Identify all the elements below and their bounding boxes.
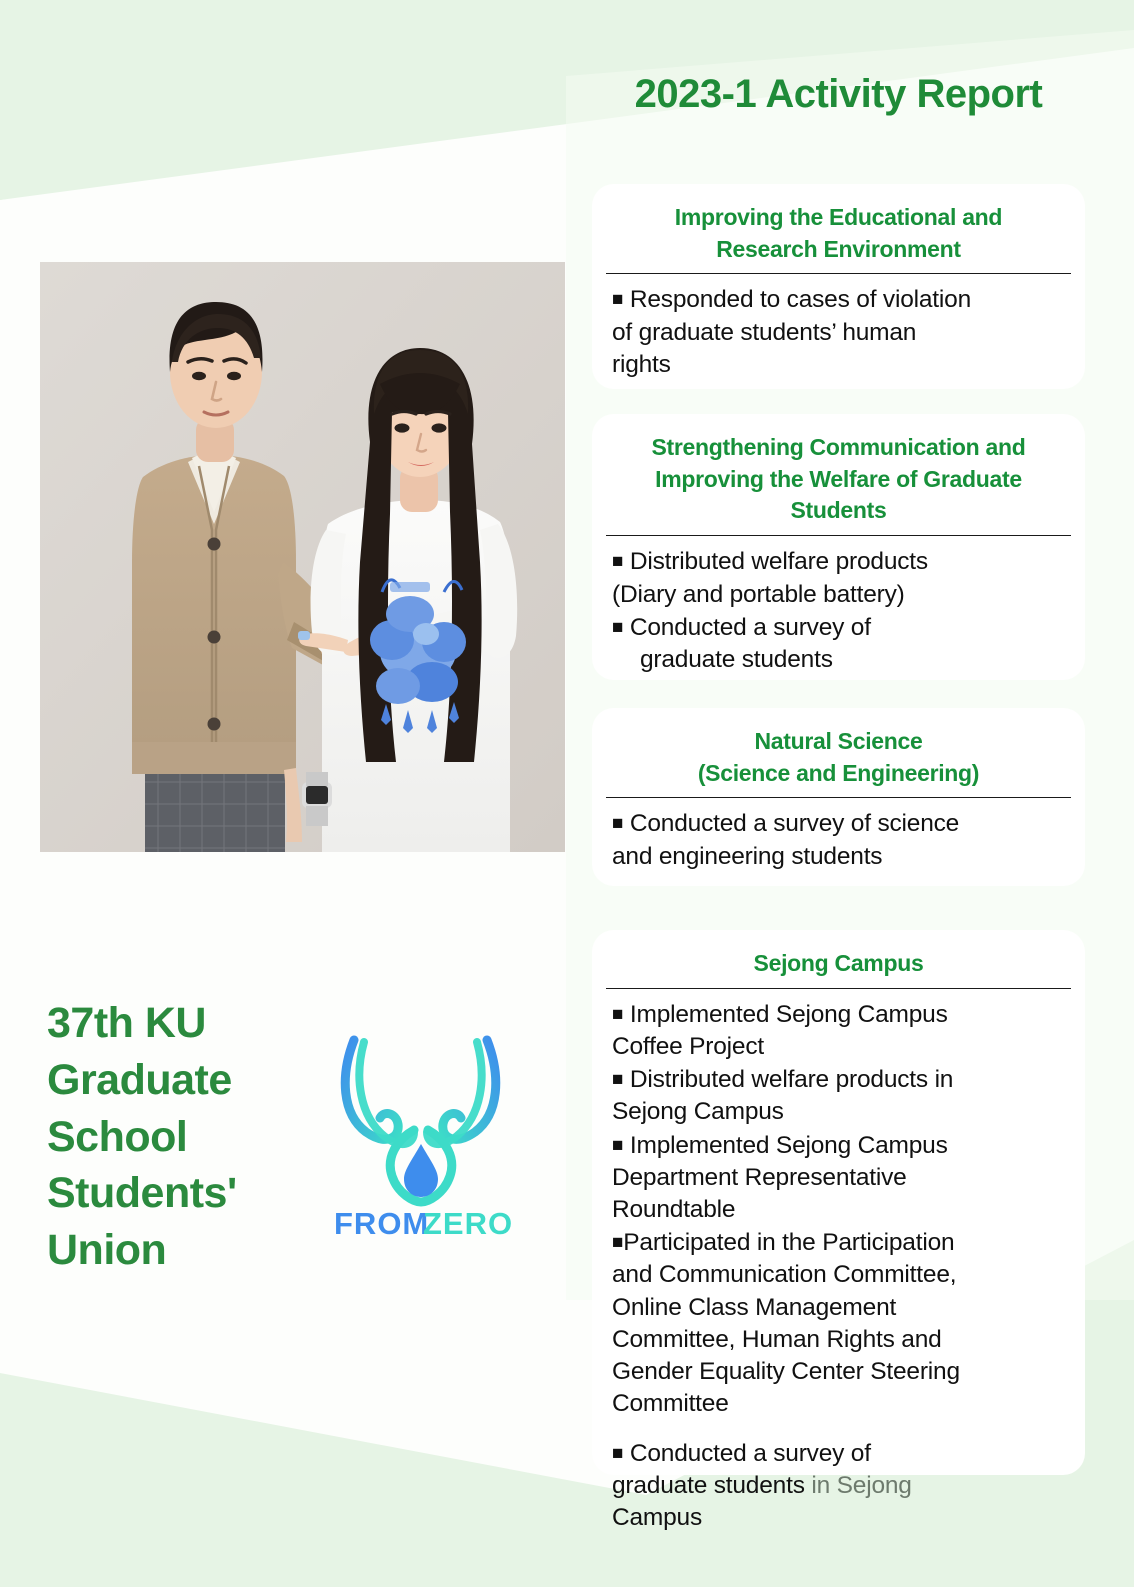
card-welfare-divider xyxy=(606,535,1071,536)
card-welfare-heading-line-2: Improving the Welfare of Graduate xyxy=(655,466,1022,492)
list-item-line-1: Implemented Sejong Campus xyxy=(630,1001,948,1028)
list-item: ■Participated in the Participation and C… xyxy=(612,1227,1075,1420)
card-sejong-campus-overflow: ■ Conducted a survey of graduate student… xyxy=(612,1438,1082,1536)
list-item-line-2: (Diary and portable battery) xyxy=(612,581,905,608)
list-item-line-3: Campus xyxy=(612,1504,702,1531)
card-sejong-campus-body: ■ Implemented Sejong Campus Coffee Proje… xyxy=(592,993,1085,1421)
from-zero-logo: FROM ZERO xyxy=(318,1018,523,1243)
list-item: ■ Distributed welfare products (Diary an… xyxy=(612,546,1075,611)
list-item-line-2: of graduate students’ human xyxy=(612,319,916,346)
list-item-line-5: Gender Equality Center Steering xyxy=(612,1358,960,1385)
list-item-line-2: graduate students xyxy=(612,644,1075,676)
card-education-heading-line-1: Improving the Educational and xyxy=(675,204,1002,230)
card-welfare-heading: Strengthening Communication and Improvin… xyxy=(592,428,1085,533)
bullet-square-icon: ■ xyxy=(612,1443,623,1464)
brand-line-2: Graduate xyxy=(47,1052,302,1109)
bullet-square-icon: ■ xyxy=(612,1004,623,1025)
brand-line-5: Union xyxy=(47,1222,302,1279)
list-item: ■ Conducted a survey of graduate student… xyxy=(612,1438,1082,1535)
list-item-line-2: Coffee Project xyxy=(612,1033,764,1060)
card-natural-science-body: ■ Conducted a survey of science and engi… xyxy=(592,802,1085,873)
list-item-line-3: Roundtable xyxy=(612,1196,735,1223)
card-sejong-campus-heading: Sejong Campus xyxy=(592,944,1085,986)
card-welfare-heading-line-3: Students xyxy=(791,497,887,523)
list-item: ■ Implemented Sejong Campus Coffee Proje… xyxy=(612,999,1075,1063)
card-natural-science-heading-line-1: Natural Science xyxy=(754,728,922,754)
list-item-line-1: Implemented Sejong Campus xyxy=(630,1132,948,1159)
list-item-line-2: Department Representative xyxy=(612,1164,907,1191)
brand-line-3: School xyxy=(47,1109,302,1166)
list-item-line-1: Participated in the Participation xyxy=(623,1229,954,1256)
list-item-line-3: rights xyxy=(612,351,671,378)
list-item-line-2-faded: in Sejong xyxy=(805,1472,912,1499)
list-item-line-2: graduate students xyxy=(612,1472,805,1499)
logo-wordmark-from: FROM xyxy=(334,1206,429,1241)
list-item-line-1: Conducted a survey of xyxy=(630,614,871,641)
card-sejong-campus-divider xyxy=(606,988,1071,989)
bullet-square-icon: ■ xyxy=(612,813,623,834)
list-item: ■ Conducted a survey of science and engi… xyxy=(612,808,1075,873)
list-item-line-6: Committee xyxy=(612,1390,729,1417)
organization-name: 37th KU Graduate School Students' Union xyxy=(47,995,302,1279)
card-education-body: ■ Responded to cases of violation of gra… xyxy=(592,278,1085,381)
list-item: ■ Conducted a survey of graduate student… xyxy=(612,612,1075,677)
list-item: ■ Distributed welfare products in Sejong… xyxy=(612,1064,1075,1128)
bullet-square-icon: ■ xyxy=(612,551,623,572)
droplet-icon xyxy=(404,1144,438,1197)
list-item-line-2: Sejong Campus xyxy=(612,1098,784,1125)
bullet-square-icon: ■ xyxy=(612,289,623,310)
bullet-square-icon: ■ xyxy=(612,1135,623,1156)
card-education-divider xyxy=(606,273,1071,274)
card-welfare: Strengthening Communication and Improvin… xyxy=(592,414,1085,680)
list-item-line-4: Committee, Human Rights and xyxy=(612,1326,942,1353)
brand-line-1: 37th KU xyxy=(47,995,302,1052)
list-item-line-1: Conducted a survey of science xyxy=(630,810,959,837)
list-item-line-2: and Communication Committee, xyxy=(612,1261,956,1288)
card-natural-science-heading: Natural Science (Science and Engineering… xyxy=(592,722,1085,795)
logo-wordmark-zero: ZERO xyxy=(423,1206,513,1241)
brand-line-4: Students' xyxy=(47,1165,302,1222)
bullet-square-icon: ■ xyxy=(612,1232,623,1253)
list-item-line-1: Distributed welfare products xyxy=(630,548,928,575)
list-item-line-3: Online Class Management xyxy=(612,1294,896,1321)
card-sejong-campus: Sejong Campus ■ Implemented Sejong Campu… xyxy=(592,930,1085,1475)
card-education: Improving the Educational and Research E… xyxy=(592,184,1085,389)
bullet-square-icon: ■ xyxy=(612,1069,623,1090)
card-natural-science-divider xyxy=(606,797,1071,798)
card-education-heading: Improving the Educational and Research E… xyxy=(592,198,1085,271)
list-item-line-2: and engineering students xyxy=(612,843,882,870)
card-natural-science-heading-line-2: (Science and Engineering) xyxy=(698,760,979,786)
team-photo xyxy=(40,262,565,852)
card-education-heading-line-2: Research Environment xyxy=(716,236,961,262)
list-item-line-1: Distributed welfare products in xyxy=(630,1066,953,1093)
card-welfare-body: ■ Distributed welfare products (Diary an… xyxy=(592,540,1085,676)
list-item-line-1: Conducted a survey of xyxy=(630,1440,871,1467)
list-item: ■ Responded to cases of violation of gra… xyxy=(612,284,1075,381)
list-item-line-1: Responded to cases of violation xyxy=(630,286,971,313)
card-natural-science: Natural Science (Science and Engineering… xyxy=(592,708,1085,886)
card-welfare-heading-line-1: Strengthening Communication and xyxy=(651,434,1025,460)
list-item: ■ Implemented Sejong Campus Department R… xyxy=(612,1130,1075,1227)
page-title: 2023-1 Activity Report xyxy=(592,72,1085,117)
bullet-square-icon: ■ xyxy=(612,617,623,638)
activity-report-poster: 2023-1 Activity Report xyxy=(0,0,1134,1587)
